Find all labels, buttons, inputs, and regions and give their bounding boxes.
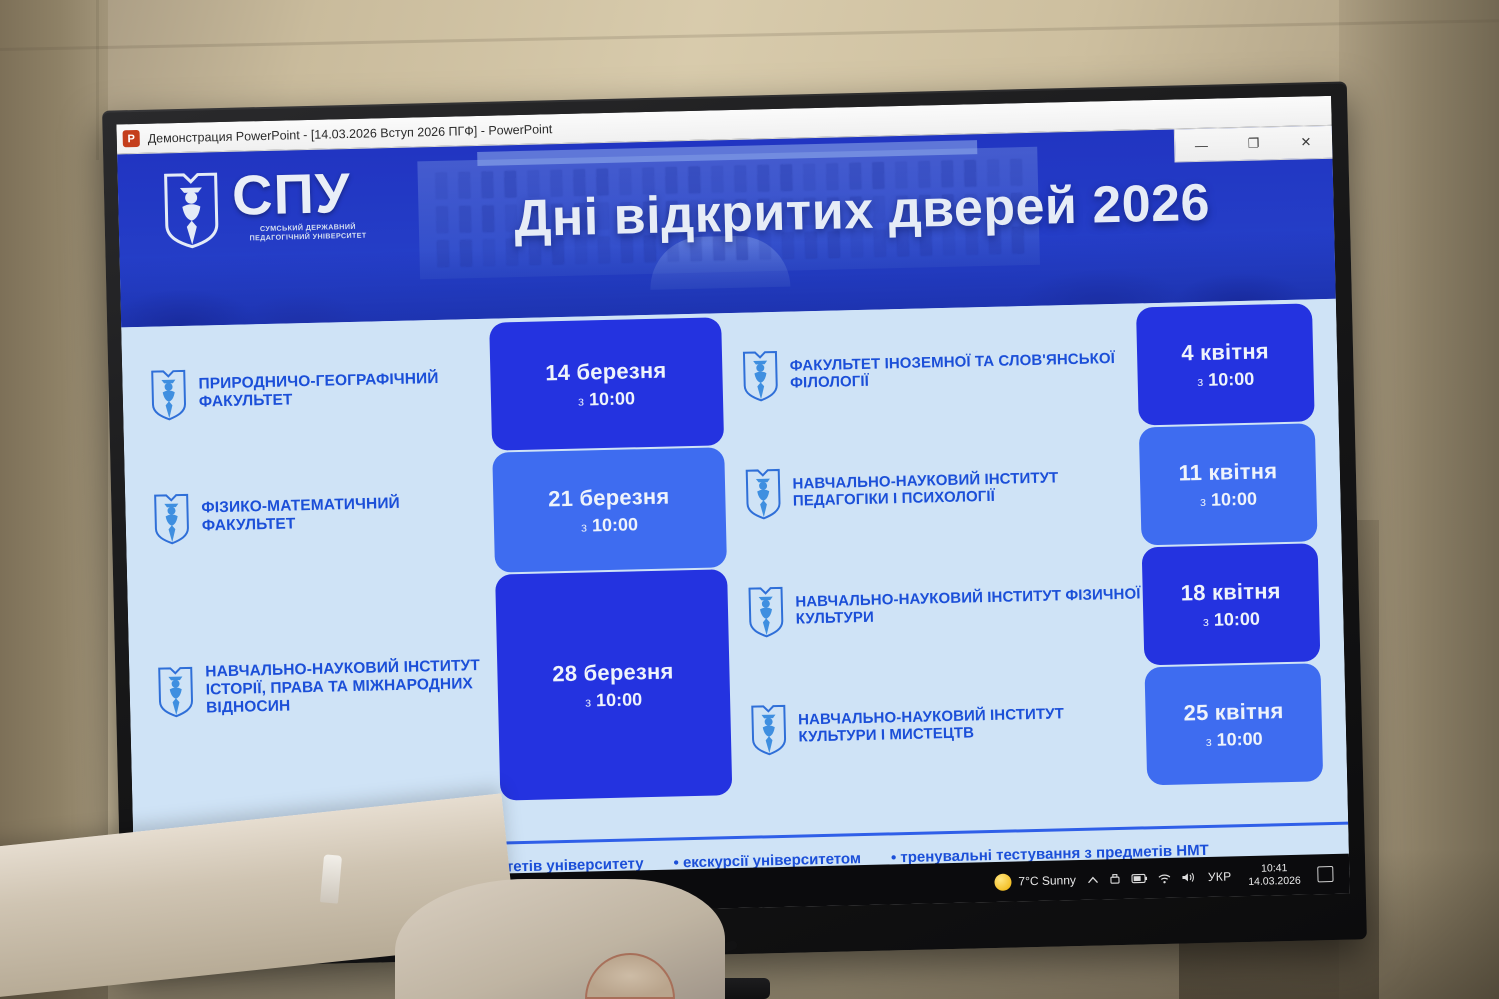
date-card: 18 квітняз 10:00 xyxy=(1142,543,1321,665)
date-day: 4 квітня xyxy=(1181,338,1269,366)
draped-cloth xyxy=(395,879,725,999)
faculty-name: НАВЧАЛЬНО-НАУКОВИЙ ІНСТИТУТ ПЕДАГОГІКИ І… xyxy=(792,467,1138,510)
left-date-list: 14 березняз 10:0021 березняз 10:0028 бер… xyxy=(489,317,733,841)
faculty-row: НАВЧАЛЬНО-НАУКОВИЙ ІНСТИТУТ ПЕДАГОГІКИ І… xyxy=(739,425,1141,552)
show-hidden-icons-icon[interactable] xyxy=(1088,875,1099,884)
faculty-row: ФАКУЛЬТЕТ ІНОЗЕМНОЇ ТА СЛОВ'ЯНСЬКОЇ ФІЛО… xyxy=(737,307,1139,434)
faculty-crest-icon xyxy=(148,366,189,423)
date-time: з 10:00 xyxy=(1205,728,1262,750)
logo-text: СПУ СУМСЬКИЙ ДЕРЖАВНИЙ ПЕДАГОГІЧНИЙ УНІВ… xyxy=(231,166,383,243)
weather-text: 7°C Sunny xyxy=(1018,873,1076,888)
wall-seam xyxy=(96,0,99,160)
clock-time: 10:41 xyxy=(1261,862,1288,875)
date-card: 11 квітняз 10:00 xyxy=(1139,423,1318,545)
presentation-slide[interactable]: СПУ СУМСЬКИЙ ДЕРЖАВНИЙ ПЕДАГОГІЧНИЙ УНІВ… xyxy=(117,126,1349,898)
faculty-row: НАВЧАЛЬНО-НАУКОВИЙ ІНСТИТУТ КУЛЬТУРИ І М… xyxy=(745,661,1147,788)
date-time: з 10:00 xyxy=(578,388,635,410)
slide-body: ПРИРОДНИЧО-ГЕОГРАФІЧНИЙ ФАКУЛЬТЕТФІЗИКО-… xyxy=(121,299,1348,850)
weather-widget[interactable]: 7°C Sunny xyxy=(994,872,1076,891)
date-time: з 10:00 xyxy=(581,514,638,536)
battery-icon[interactable] xyxy=(1132,873,1148,883)
faculty-name: ФІЗИКО-МАТЕМАТИЧНИЙ ФАКУЛЬТЕТ xyxy=(201,493,491,536)
ceiling-seam xyxy=(0,19,1499,51)
window-title: Демонстрация PowerPoint - [14.03.2026 Вс… xyxy=(148,122,553,146)
faculty-name: НАВЧАЛЬНО-НАУКОВИЙ ІНСТИТУТ ІСТОРІЇ, ПРА… xyxy=(205,657,496,718)
university-crest-icon xyxy=(159,166,223,249)
right-faculty-list: ФАКУЛЬТЕТ ІНОЗЕМНОЇ ТА СЛОВ'ЯНСЬКОЇ ФІЛО… xyxy=(737,307,1149,835)
date-time: з 10:00 xyxy=(1200,488,1257,510)
close-button[interactable]: ✕ xyxy=(1286,126,1327,159)
screen: P Демонстрация PowerPoint - [14.03.2026 … xyxy=(116,96,1349,922)
left-column: ПРИРОДНИЧО-ГЕОГРАФІЧНИЙ ФАКУЛЬТЕТФІЗИКО-… xyxy=(145,317,733,849)
clock-date: 14.03.2026 xyxy=(1248,875,1301,889)
faculty-crest-icon xyxy=(745,583,786,640)
faculty-name: НАВЧАЛЬНО-НАУКОВИЙ ІНСТИТУТ КУЛЬТУРИ І М… xyxy=(798,703,1144,746)
faculty-name: ПРИРОДНИЧО-ГЕОГРАФІЧНИЙ ФАКУЛЬТЕТ xyxy=(198,369,488,412)
system-tray xyxy=(1088,871,1196,887)
date-day: 11 квітня xyxy=(1178,458,1277,486)
university-logo: СПУ СУМСЬКИЙ ДЕРЖАВНИЙ ПЕДАГОГІЧНИЙ УНІВ… xyxy=(159,162,383,249)
printer-icon[interactable] xyxy=(1109,872,1122,885)
volume-icon[interactable] xyxy=(1182,871,1196,883)
date-day: 18 квітня xyxy=(1180,578,1281,606)
date-time: з 10:00 xyxy=(1197,368,1254,390)
faculty-name: ФАКУЛЬТЕТ ІНОЗЕМНОЇ ТА СЛОВ'ЯНСЬКОЇ ФІЛО… xyxy=(790,349,1136,392)
clock[interactable]: 10:41 14.03.2026 xyxy=(1243,862,1306,889)
date-day: 28 березня xyxy=(552,658,674,687)
date-time: з 10:00 xyxy=(585,689,642,711)
date-card: 21 березняз 10:00 xyxy=(492,447,727,572)
language-indicator[interactable]: УКР xyxy=(1208,869,1232,884)
date-card: 14 березняз 10:00 xyxy=(489,317,724,450)
faculty-crest-icon xyxy=(151,490,192,547)
date-time: з 10:00 xyxy=(1203,608,1260,630)
logo-subtitle: СУМСЬКИЙ ДЕРЖАВНИЙ ПЕДАГОГІЧНИЙ УНІВЕРСИ… xyxy=(233,221,383,244)
logo-abbreviation: СПУ xyxy=(231,166,382,221)
faculty-row: ФІЗИКО-МАТЕМАТИЧНИЙ ФАКУЛЬТЕТ xyxy=(148,451,494,579)
restore-button[interactable]: ❐ xyxy=(1233,127,1274,160)
date-card: 4 квітняз 10:00 xyxy=(1136,303,1315,425)
date-day: 14 березня xyxy=(545,357,667,386)
faculty-row: НАВЧАЛЬНО-НАУКОВИЙ ІНСТИТУТ ФІЗИЧНОЇ КУЛ… xyxy=(742,543,1144,670)
powerpoint-icon: P xyxy=(123,130,140,147)
date-card: 25 квітняз 10:00 xyxy=(1144,663,1323,785)
right-date-list: 4 квітняз 10:0011 квітняз 10:0018 квітня… xyxy=(1136,303,1324,826)
faculty-row: НАВЧАЛЬНО-НАУКОВИЙ ІНСТИТУТ ІСТОРІЇ, ПРА… xyxy=(151,571,500,805)
date-day: 21 березня xyxy=(548,483,670,512)
faculty-crest-icon xyxy=(748,701,789,758)
left-faculty-list: ПРИРОДНИЧО-ГЕОГРАФІЧНИЙ ФАКУЛЬТЕТФІЗИКО-… xyxy=(145,323,501,850)
faculty-crest-icon xyxy=(739,347,780,404)
date-day: 25 квітня xyxy=(1183,698,1284,726)
notification-icon[interactable] xyxy=(1317,866,1333,882)
window-controls: — ❐ ✕ xyxy=(1174,126,1333,163)
minimize-button[interactable]: — xyxy=(1181,128,1222,161)
slide-header: СПУ СУМСЬКИЙ ДЕРЖАВНИЙ ПЕДАГОГІЧНИЙ УНІВ… xyxy=(117,126,1336,328)
date-card: 28 березняз 10:00 xyxy=(495,569,732,800)
faculty-row: ПРИРОДНИЧО-ГЕОГРАФІЧНИЙ ФАКУЛЬТЕТ xyxy=(145,323,491,459)
wifi-icon[interactable] xyxy=(1158,872,1172,883)
right-column: ФАКУЛЬТЕТ ІНОЗЕМНОЇ ТА СЛОВ'ЯНСЬКОЇ ФІЛО… xyxy=(737,303,1325,835)
faculty-name: НАВЧАЛЬНО-НАУКОВИЙ ІНСТИТУТ ФІЗИЧНОЇ КУЛ… xyxy=(795,585,1141,628)
faculty-crest-icon xyxy=(155,663,196,720)
sun-icon xyxy=(994,873,1011,890)
faculty-crest-icon xyxy=(742,465,783,522)
